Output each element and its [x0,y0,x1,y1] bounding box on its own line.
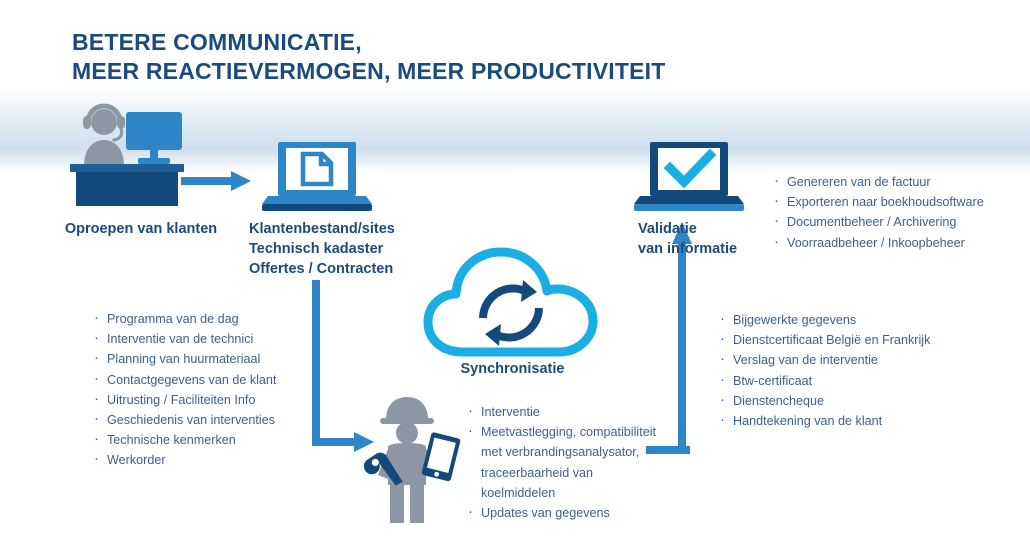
call-center-agent-desk-icon [62,100,192,210]
node-label-calls-line-1: Oproepen van klanten [46,219,236,239]
bullet-list-technician-tasks: Interventie Meetvastlegging, compatibili… [466,402,676,523]
node-label-database-line-2: Technisch kadaster [249,239,469,259]
list-item: Geschiedenis van interventies [92,410,322,430]
laptop-document-icon [262,142,372,214]
title-line-2: MEER REACTIEVERMOGEN, MEER PRODUCTIVITEI… [72,57,832,86]
page-title: BETERE COMMUNICATIE, MEER REACTIEVERMOGE… [72,28,832,86]
list-item: Dienstencheque [718,391,978,411]
list-item: Planning van huurmateriaal [92,349,322,369]
node-label-calls: Oproepen van klanten [46,219,236,239]
list-item: Verslag van de interventie [718,350,978,370]
bullet-list-field-returns: Bijgewerkte gegevens Dienstcertificaat B… [718,310,978,431]
list-item: Exporteren naar boekhoudsoftware [772,192,1012,212]
infographic-canvas: BETERE COMMUNICATIE, MEER REACTIEVERMOGE… [0,0,1030,552]
bullet-list-database-outputs: Programma van de dag Interventie van de … [92,309,322,471]
arrow-calls-to-database [181,168,259,194]
list-item: Genereren van de factuur [772,172,1012,192]
list-item: Interventie [466,402,676,422]
node-label-database-line-3: Offertes / Contracten [249,259,469,279]
technician-with-wrench-and-tablet-icon [362,395,472,525]
list-item: Btw-certificaat [718,371,978,391]
list-item: Voorraadbeheer / Inkoopbeheer [772,233,1012,253]
list-item: Bijgewerkte gegevens [718,310,978,330]
sync-label: Synchronisatie [425,361,600,377]
list-item: Werkorder [92,450,322,470]
laptop-checkmark-icon [634,142,744,214]
title-line-1: BETERE COMMUNICATIE, [72,28,832,57]
list-item: Dienstcertificaat België en Frankrijk [718,330,978,350]
list-item: Handtekening van de klant [718,411,978,431]
list-item: Interventie van de technici [92,329,322,349]
list-item: Programma van de dag [92,309,322,329]
node-label-database: Klantenbestand/sites Technisch kadaster … [249,219,469,279]
list-item: Documentbeheer / Archivering [772,212,1012,232]
list-item: Technische kenmerken [92,430,322,450]
list-item: Updates van gegevens [466,503,676,523]
bullet-list-validation-outputs: Genereren van de factuur Exporteren naar… [772,172,1012,253]
list-item: Contactgegevens van de klant [92,370,322,390]
list-item: Uitrusting / Faciliteiten Info [92,390,322,410]
list-item: Meetvastlegging, compatibiliteit met ver… [466,422,676,503]
node-label-database-line-1: Klantenbestand/sites [249,219,469,239]
